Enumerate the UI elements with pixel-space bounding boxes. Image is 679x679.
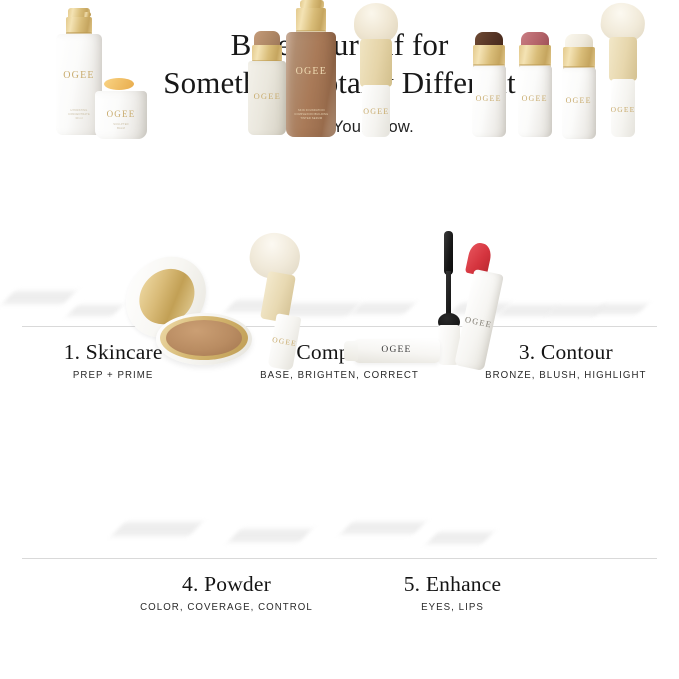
product-row-1: OGEE HYDRATINGCONCENTRATE30 ml OGEE SCUL… (0, 151, 679, 326)
shadow (340, 522, 425, 534)
wand-stem (446, 271, 451, 317)
step-title: 4. Powder (114, 572, 340, 597)
shadow (111, 522, 202, 536)
captions-row-2: 4. Powder COLOR, COVERAGE, CONTROL 5. En… (0, 559, 679, 613)
tube-body: OGEE (354, 339, 440, 363)
brand-logo: OGEE (562, 96, 596, 105)
step-subtitle: BASE, BRIGHTEN, CORRECT (226, 370, 452, 381)
pump-collar (66, 17, 92, 33)
balm-swirl (104, 78, 134, 90)
powder-pan (166, 320, 242, 356)
product-row-2: OGEE OGEE (0, 383, 679, 558)
shadow (426, 532, 493, 544)
product-lineup-infographic: Base Yourself for Something Totally Diff… (0, 0, 679, 679)
product-group-powder: OGEE (114, 383, 340, 558)
captions-row-1: 1. Skincare PREP + PRIME 2. Complexion B… (0, 327, 679, 381)
step-title: 5. Enhance (340, 572, 566, 597)
step-subtitle: BRONZE, BLUSH, HIGHLIGHT (453, 370, 679, 381)
shadow (228, 529, 312, 542)
stick-body: OGEE (472, 66, 506, 137)
brand-logo: OGEE (611, 105, 635, 114)
brush-handle: OGEE (362, 85, 390, 137)
brand-logo: OGEE (95, 109, 147, 119)
step-subtitle: EYES, LIPS (340, 602, 566, 613)
brand-logo: OGEE (472, 94, 506, 103)
brand-logo: OGEE (354, 345, 440, 355)
stick-collar (252, 45, 282, 61)
stick-body: OGEE (248, 61, 286, 135)
jar-fineprint: SCULPTEDBALM (95, 123, 147, 131)
stick-body: OGEE (562, 68, 596, 139)
stick-body: OGEE (518, 66, 552, 137)
brand-logo: OGEE (248, 91, 286, 101)
pump-nozzle (84, 12, 91, 17)
stick-collar (473, 45, 505, 65)
bottle-body: OGEE SKIN FOUNDATIONCOMPLEXION BUILDINGT… (286, 32, 336, 137)
brush-handle: OGEE (611, 79, 635, 137)
pump-collar (296, 8, 326, 31)
compact-gold-rim (160, 316, 248, 360)
brush-ferrule (609, 37, 637, 81)
brand-logo: OGEE (518, 94, 552, 103)
caption-powder: 4. Powder COLOR, COVERAGE, CONTROL (114, 572, 340, 613)
brand-logo: OGEE (271, 335, 297, 348)
stick-collar (563, 47, 595, 67)
brush-bristles (354, 3, 398, 43)
product-group-enhance: OGEE OGEE (340, 383, 566, 558)
compact-base (156, 313, 252, 365)
shadow (351, 303, 415, 314)
jar-body: OGEE SCULPTEDBALM (95, 91, 147, 139)
step-subtitle: PREP + PRIME (0, 370, 226, 381)
brush-ferrule (360, 39, 392, 87)
stick-collar (519, 45, 551, 65)
wand-brush-head (444, 231, 453, 275)
caption-enhance: 5. Enhance EYES, LIPS (340, 572, 566, 613)
step-subtitle: COLOR, COVERAGE, CONTROL (114, 602, 340, 613)
shadow (67, 305, 123, 316)
shadow (2, 291, 76, 304)
bottle-fineprint: SKIN FOUNDATIONCOMPLEXION BUILDINGTINTED… (286, 109, 336, 120)
brand-logo: OGEE (56, 70, 102, 81)
shadow (592, 304, 647, 314)
tube-end-cap (344, 341, 358, 361)
brand-logo: OGEE (362, 107, 390, 116)
brand-logo: OGEE (462, 314, 493, 330)
brand-logo: OGEE (286, 66, 336, 77)
